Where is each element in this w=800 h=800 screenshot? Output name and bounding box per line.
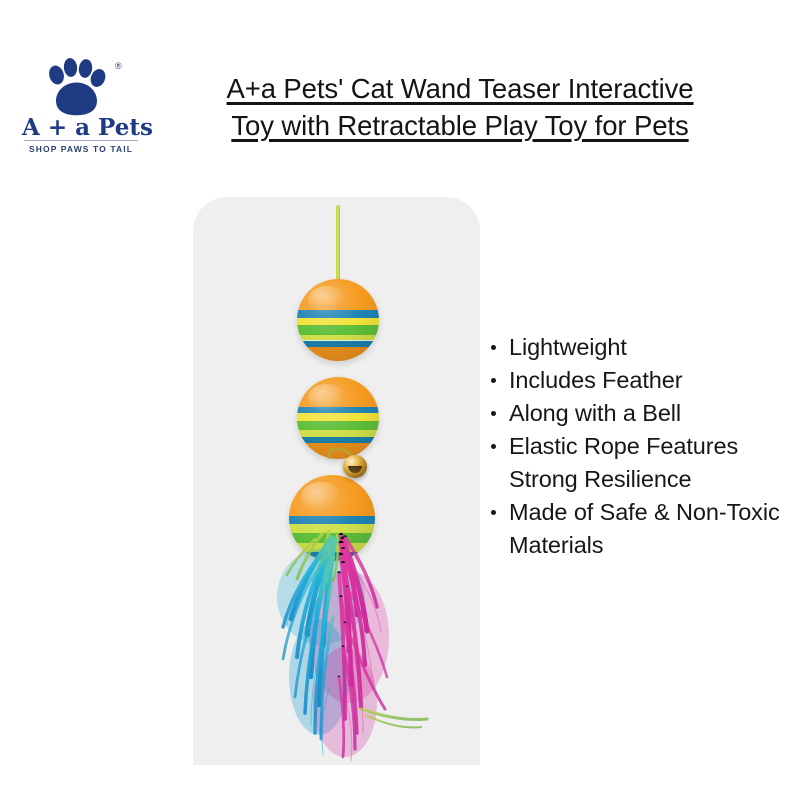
feature-item: Made of Safe & Non-Toxic Materials bbox=[487, 496, 787, 562]
bell bbox=[343, 455, 367, 478]
paw-print-icon bbox=[44, 58, 108, 116]
header: ® A + a Pets SHOP PAWS TO TAIL A+a Pets'… bbox=[0, 0, 800, 175]
feather-plume bbox=[245, 527, 435, 765]
product-image-panel bbox=[193, 197, 480, 765]
feature-item: Lightweight bbox=[487, 331, 787, 364]
page-title-line-2: Toy with Retractable Play Toy for Pets bbox=[231, 110, 688, 141]
feature-item: Along with a Bell bbox=[487, 397, 787, 430]
page-title-line-1: A+a Pets' Cat Wand Teaser Interactive bbox=[227, 73, 694, 104]
features-list: Lightweight Includes Feather Along with … bbox=[487, 331, 787, 562]
brand-logo[interactable]: ® A + a Pets SHOP PAWS TO TAIL bbox=[22, 58, 140, 156]
striped-ball-top bbox=[297, 279, 379, 361]
brand-tagline: SHOP PAWS TO TAIL bbox=[22, 144, 140, 154]
registered-trademark-symbol: ® bbox=[115, 62, 122, 71]
feature-item: Includes Feather bbox=[487, 364, 787, 397]
brand-wordmark: A + a Pets bbox=[22, 114, 140, 141]
feature-item: Elastic Rope Features Strong Resilience bbox=[487, 430, 787, 496]
page-title: A+a Pets' Cat Wand Teaser Interactive To… bbox=[150, 70, 770, 144]
brand-divider bbox=[24, 140, 138, 141]
